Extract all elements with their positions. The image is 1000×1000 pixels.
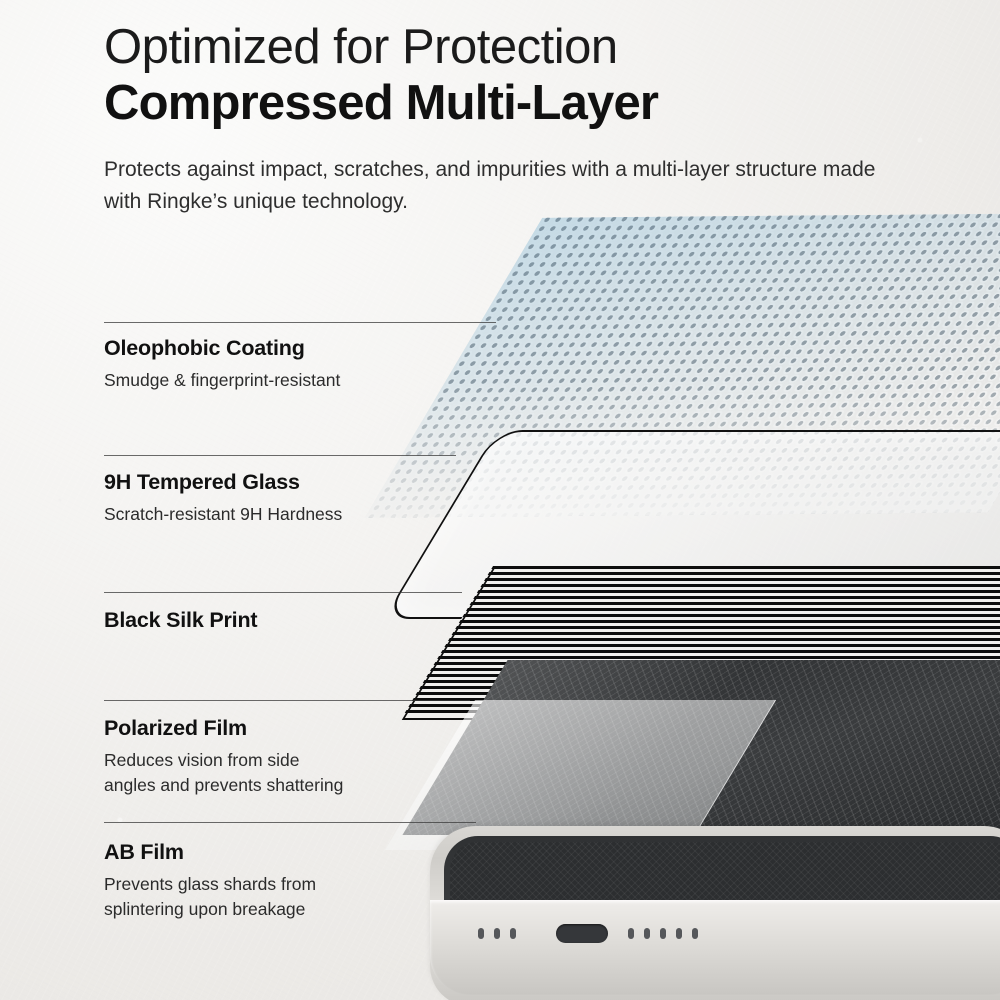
layer-description: Smudge & fingerprint-resistant <box>104 368 340 393</box>
layer-divider-4 <box>104 700 470 701</box>
layer-divider-2 <box>104 455 456 456</box>
layer-item-black-silk-print: Black Silk Print <box>104 608 257 640</box>
layer-description: Reduces vision from side angles and prev… <box>104 748 343 798</box>
layer-title: AB Film <box>104 840 316 865</box>
layer-title: Black Silk Print <box>104 608 257 633</box>
layer-description: Scratch-resistant 9H Hardness <box>104 502 342 527</box>
layer-item-polarized-film: Polarized Film Reduces vision from side … <box>104 716 343 798</box>
layer-title: 9H Tempered Glass <box>104 470 342 495</box>
product-infographic-page: Optimized for Protection Compressed Mult… <box>0 0 1000 1000</box>
layer-divider-1 <box>104 322 496 323</box>
layer-item-tempered-glass: 9H Tempered Glass Scratch-resistant 9H H… <box>104 470 342 527</box>
layer-label-list: Oleophobic Coating Smudge & fingerprint-… <box>0 0 1000 1000</box>
layer-item-oleophobic-coating: Oleophobic Coating Smudge & fingerprint-… <box>104 336 340 393</box>
layer-item-ab-film: AB Film Prevents glass shards from splin… <box>104 840 316 922</box>
layer-divider-3 <box>104 592 462 593</box>
layer-description: Prevents glass shards from splintering u… <box>104 872 316 922</box>
layer-title: Oleophobic Coating <box>104 336 340 361</box>
layer-divider-5 <box>104 822 476 823</box>
layer-title: Polarized Film <box>104 716 343 741</box>
